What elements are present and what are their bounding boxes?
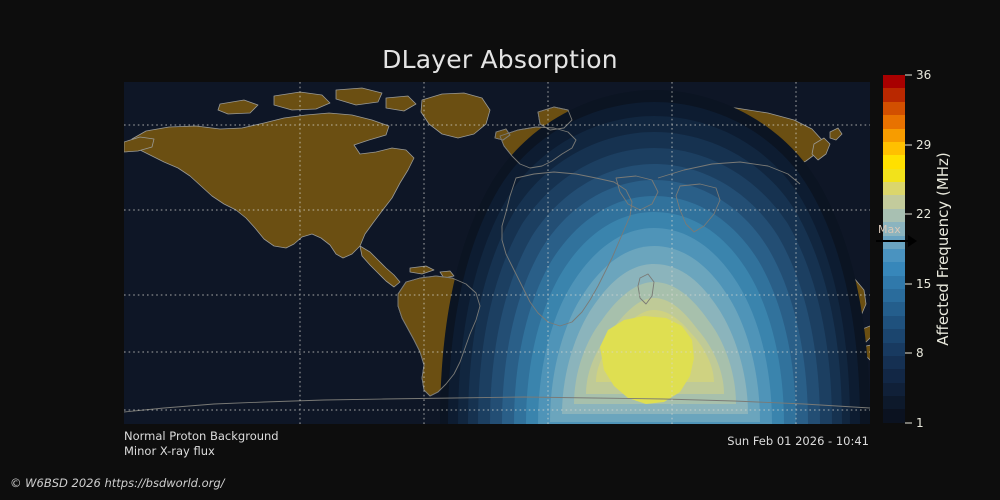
plot-canvas: DLayer Absorption xyxy=(0,0,1000,500)
colorbar-band xyxy=(883,75,905,88)
colorbar-tick-label: 15 xyxy=(916,277,931,291)
colorbar-band xyxy=(883,369,905,382)
world-map-svg xyxy=(124,82,870,424)
timestamp: Sun Feb 01 2026 - 10:41 xyxy=(727,434,869,448)
colorbar-tick-dash xyxy=(905,214,912,215)
colorbar-tick-dash xyxy=(905,283,912,284)
colorbar-band xyxy=(883,383,905,396)
colorbar-tick-label: 22 xyxy=(916,207,931,221)
colorbar-band xyxy=(883,195,905,208)
colorbar-band xyxy=(883,142,905,155)
colorbar-tick-label: 29 xyxy=(916,138,931,152)
colorbar-tick-label: 36 xyxy=(916,68,931,82)
colorbar-band xyxy=(883,88,905,101)
colorbar-tick-dash xyxy=(905,75,912,76)
status-text: Normal Proton Background Minor X-ray flu… xyxy=(124,429,279,459)
colorbar-band xyxy=(883,169,905,182)
colorbar-band xyxy=(883,262,905,275)
colorbar-band xyxy=(883,276,905,289)
colorbar-band xyxy=(883,102,905,115)
max-marker: Max xyxy=(876,229,936,255)
colorbar-tick-dash xyxy=(905,353,912,354)
status-line-xray: Minor X-ray flux xyxy=(124,444,279,459)
colorbar-band xyxy=(883,302,905,315)
colorbar-tick-dash xyxy=(905,423,912,424)
colorbar-band xyxy=(883,209,905,222)
page-title: DLayer Absorption xyxy=(0,45,1000,74)
colorbar-band xyxy=(883,182,905,195)
colorbar-band xyxy=(883,356,905,369)
colorbar-band xyxy=(883,115,905,128)
colorbar-tick-label: 8 xyxy=(916,346,924,360)
status-line-proton: Normal Proton Background xyxy=(124,429,279,444)
colorbar-tick-label: 1 xyxy=(916,416,924,430)
colorbar-band xyxy=(883,316,905,329)
colorbar-band xyxy=(883,343,905,356)
footer-credit: © W6BSD 2026 https://bsdworld.org/ xyxy=(10,476,225,490)
colorbar-band xyxy=(883,409,905,422)
max-marker-label: Max xyxy=(878,223,901,236)
colorbar-band xyxy=(883,329,905,342)
world-map-panel xyxy=(124,82,870,424)
colorbar-band xyxy=(883,289,905,302)
colorbar-band xyxy=(883,396,905,409)
max-marker-arrow-head xyxy=(908,235,917,247)
max-marker-arrow-line xyxy=(876,240,910,242)
colorbar-tick-dash xyxy=(905,144,912,145)
colorbar-band xyxy=(883,155,905,168)
colorbar-band xyxy=(883,129,905,142)
